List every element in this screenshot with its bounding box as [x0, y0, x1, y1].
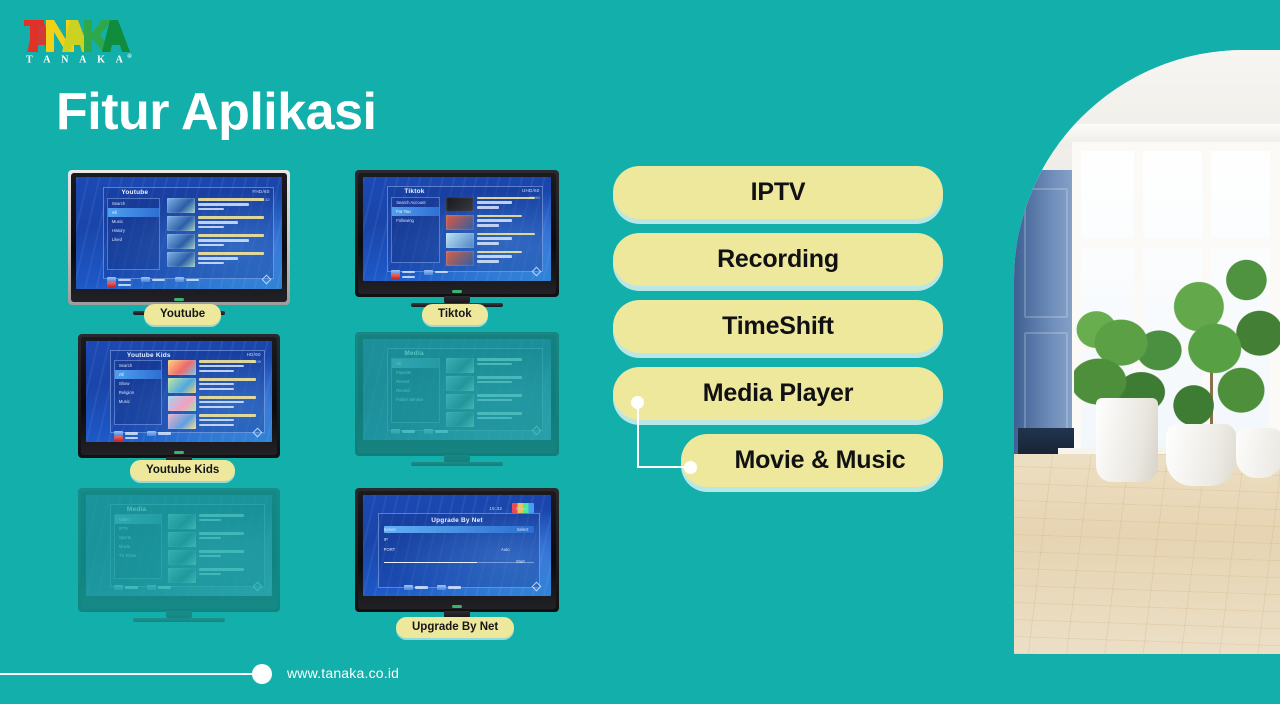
tv-menu-item: Search	[115, 361, 161, 370]
planter-pot	[1166, 424, 1236, 486]
tv-screen-title: Youtube Kids	[127, 352, 171, 359]
tv-menu-item: Liked	[108, 235, 160, 244]
feature-pill-iptv[interactable]: IPTV	[613, 166, 943, 219]
tv-menu-item: Music	[115, 397, 161, 406]
tv-menu-item: Sports	[115, 533, 161, 542]
tv-menu-item: History	[108, 226, 160, 235]
feature-pill-timeshift[interactable]: TimeShift	[613, 300, 943, 353]
screenshot-tiktok[interactable]: Tiktok UHD/60 16:50 Search Account For Y…	[355, 170, 559, 297]
screenshot-label-youtube: Youtube	[144, 304, 221, 325]
tv-menu-item-selected: All	[392, 359, 439, 368]
screenshot-media-faded-2[interactable]: Media Video IPTV Sports Movie TV Show	[78, 488, 280, 612]
tv-status-resolution: FHD/60	[252, 189, 269, 194]
slide-canvas: T A N A K A® Fitur Aplikasi Youtube FHD/…	[0, 0, 1280, 704]
tv-ui-youtube-kids: Youtube Kids HD/60 11:09 Search All Show…	[86, 341, 272, 442]
tv-power-led-icon	[174, 298, 184, 301]
screenshot-youtube-kids[interactable]: Youtube Kids HD/60 11:09 Search All Show…	[78, 334, 280, 458]
tv-menu-item: Record	[392, 386, 439, 395]
tanaka-wordmark-icon	[22, 14, 144, 54]
tv-status-reset: Reset	[516, 506, 526, 511]
connector-line-vertical	[637, 402, 639, 468]
tv-screen-title: Media	[404, 350, 423, 357]
plant-icon	[1154, 242, 1280, 432]
tv-menu-item: Show	[115, 379, 161, 388]
connector-line-horizontal	[637, 466, 689, 468]
screenshot-media-faded-1[interactable]: Media All Favorite Recent Record Folder …	[355, 332, 559, 456]
feature-list: IPTV Recording TimeShift Media Player Mo…	[613, 166, 943, 501]
feature-pill-recording[interactable]: Recording	[613, 233, 943, 286]
tv-menu-item: Favorite	[392, 368, 439, 377]
tv-status-clock: 15:32	[489, 506, 502, 511]
tv-content-list	[446, 358, 542, 423]
tv-menu-item-selected: All	[115, 370, 161, 379]
screenshot-upgrade-by-net[interactable]: 15:32 Reset Upgrade By Net Server Select…	[355, 488, 559, 612]
tv-menu-item-selected: All	[108, 208, 160, 217]
screenshot-label-tiktok: Tiktok	[422, 304, 488, 325]
tv-footer-keys	[404, 585, 541, 590]
tv-content-list	[167, 198, 272, 270]
tv-screen-title: Upgrade By Net	[363, 517, 551, 524]
tv-field-value: Select	[517, 527, 529, 532]
feature-label: Recording	[613, 245, 943, 274]
tv-menu-item-selected: For You	[392, 207, 439, 216]
feature-pill-movie-and-music[interactable]: Movie & Music	[681, 434, 943, 487]
connector-dot-movie-music	[684, 461, 697, 474]
tv-menu-list: Video IPTV Sports Movie TV Show	[114, 514, 162, 579]
tv-menu-item: Folder Service	[392, 395, 439, 404]
tv-menu-item: Search	[108, 199, 160, 208]
tv-screen-title: Media	[127, 506, 146, 513]
feature-label: Media Player	[613, 379, 943, 408]
tv-progress-label: Start	[516, 559, 525, 564]
tv-menu-item: TV Show	[115, 551, 161, 560]
tv-menu-list: Search All Music History Liked	[107, 198, 161, 270]
tv-progress-bar	[384, 562, 534, 564]
tanaka-logo-subtext: T A N A K A®	[26, 54, 144, 65]
tv-menu-list: Search All Show Religion Music	[114, 360, 162, 425]
tv-menu-item: Recent	[392, 377, 439, 386]
tv-ui-tiktok: Tiktok UHD/60 16:50 Search Account For Y…	[363, 177, 551, 281]
tv-field-value: Auto	[501, 547, 510, 552]
tv-power-led-icon	[174, 451, 184, 454]
page-title: Fitur Aplikasi	[56, 84, 376, 140]
connector-dot-media-player	[631, 396, 644, 409]
tv-ui-upgrade: 15:32 Reset Upgrade By Net Server Select…	[363, 495, 551, 596]
tv-power-led-icon	[452, 290, 462, 293]
tv-content-list	[168, 514, 263, 579]
tv-power-led-icon	[452, 605, 462, 608]
tv-menu-item: IPTV	[115, 524, 161, 533]
feature-label: TimeShift	[613, 312, 943, 341]
tv-footer-keys	[114, 585, 263, 590]
feature-label: Movie & Music	[681, 446, 943, 475]
room-photo	[1014, 50, 1280, 654]
tv-screen-title: Tiktok	[404, 188, 424, 195]
screenshot-youtube[interactable]: Youtube FHD/60 14:32 Search All Music Hi…	[68, 170, 290, 305]
tv-ui-media-1: Media All Favorite Recent Record Folder …	[363, 339, 551, 440]
tv-ui-media-2: Media Video IPTV Sports Movie TV Show	[86, 495, 272, 596]
tv-field-label: Server	[384, 527, 396, 532]
footer-dot	[252, 664, 272, 684]
tv-menu-item: Movie	[115, 542, 161, 551]
tv-menu-item-selected: Video	[115, 515, 161, 524]
planter-pot	[1096, 398, 1158, 482]
screenshot-label-upgrade-by-net: Upgrade By Net	[396, 617, 514, 638]
tv-menu-list: All Favorite Recent Record Folder Servic…	[391, 358, 440, 423]
tv-status-resolution: UHD/60	[522, 188, 540, 193]
tv-screen-title: Youtube	[121, 189, 148, 196]
tv-ui-youtube: Youtube FHD/60 14:32 Search All Music Hi…	[76, 177, 282, 289]
tv-content-list	[168, 360, 263, 425]
tanaka-logo: T A N A K A®	[22, 14, 144, 72]
footer-website-url: www.tanaka.co.id	[287, 665, 399, 681]
footer-rule	[0, 673, 258, 675]
tv-menu-item: Religion	[115, 388, 161, 397]
feature-pill-media-player[interactable]: Media Player	[613, 367, 943, 420]
tv-menu-item: Search Account	[392, 198, 439, 207]
tv-field-label: PORT	[384, 547, 396, 552]
tv-menu-list: Search Account For You Following	[391, 197, 440, 264]
planter-pot	[1236, 428, 1280, 478]
feature-label: IPTV	[613, 178, 943, 207]
screenshot-label-youtube-kids: Youtube Kids	[130, 460, 235, 481]
tv-field-label: IP	[384, 537, 388, 542]
tv-menu-item: Music	[108, 217, 160, 226]
tv-footer-keys	[391, 429, 541, 434]
tv-status-resolution: HD/60	[247, 352, 261, 357]
tv-content-list	[446, 197, 542, 264]
tv-footer-keys	[107, 277, 272, 282]
tv-menu-item: Following	[392, 216, 439, 225]
